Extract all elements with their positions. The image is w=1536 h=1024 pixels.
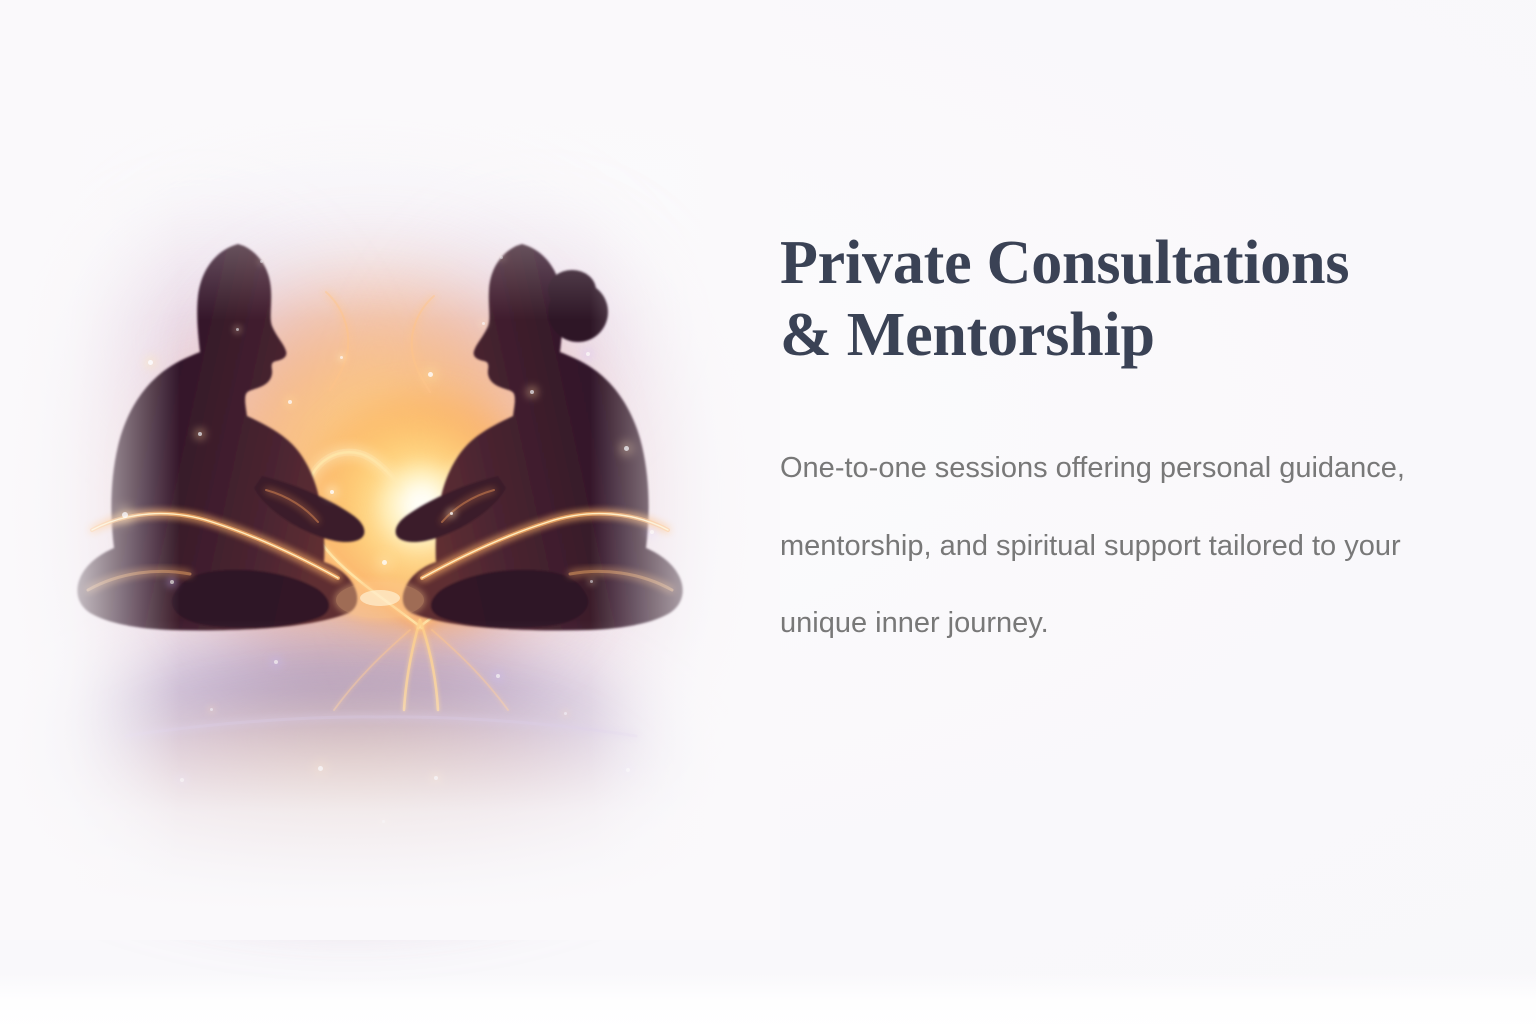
- sparkle-field: [30, 60, 730, 890]
- hero-illustration: [0, 0, 780, 1024]
- hero-content: Private Consultations & Mentorship One-t…: [780, 0, 1480, 1024]
- illustration-stage: [30, 60, 730, 890]
- copy-block: Private Consultations & Mentorship One-t…: [780, 228, 1470, 663]
- headline-line-1: Private Consultations: [780, 228, 1470, 300]
- hero-page: Private Consultations & Mentorship One-t…: [0, 0, 1536, 1024]
- page-title: Private Consultations & Mentorship: [780, 228, 1470, 372]
- hero-description: One-to-one sessions offering personal gu…: [780, 372, 1470, 663]
- headline-line-2: & Mentorship: [780, 300, 1470, 372]
